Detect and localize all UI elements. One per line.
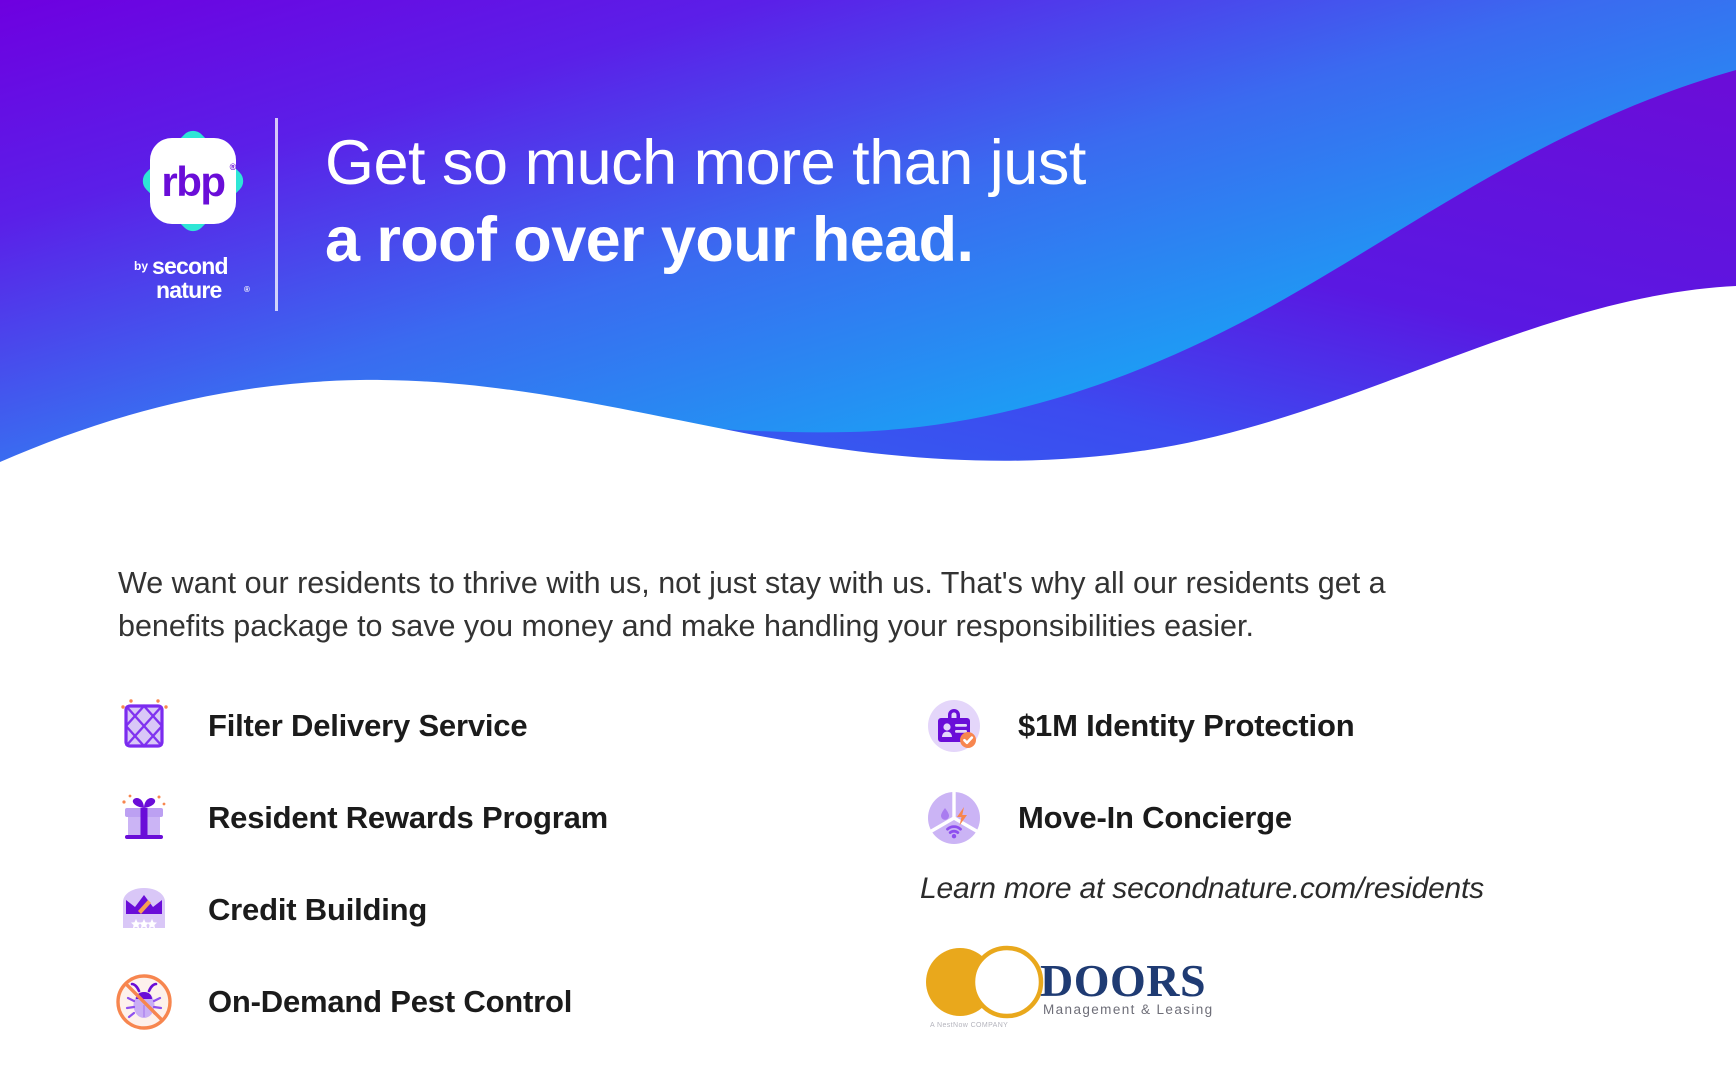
id-badge-check-icon — [920, 692, 988, 760]
rbp-benefits-flyer: rbp ® by second nature ® Get so much mor… — [0, 0, 1736, 1080]
partner-tagline: Management & Leasing — [1043, 1002, 1212, 1017]
intro-line-2: benefits package to save you money and m… — [118, 605, 1608, 648]
benefit-item-identity-protection[interactable]: $1M Identity Protection — [920, 680, 1354, 772]
benefit-label: $1M Identity Protection — [1018, 708, 1354, 744]
intro-line-1: We want our residents to thrive with us,… — [118, 562, 1608, 605]
hero-headline: Get so much more than just a roof over y… — [325, 128, 1086, 275]
partner-micro-tagline: A NestNow COMPANY — [930, 1022, 1008, 1029]
benefits-column-right: $1M Identity Protection Move-In Concier — [920, 680, 1354, 864]
no-pest-icon — [110, 968, 178, 1036]
benefit-item-credit-building[interactable]: Credit Building — [110, 864, 608, 956]
benefit-label: On-Demand Pest Control — [208, 984, 572, 1020]
svg-text:rbp: rbp — [161, 158, 224, 205]
benefit-label: Move-In Concierge — [1018, 800, 1292, 836]
doors-partner-logo: DOORS Management & Leasing — [912, 938, 1212, 1048]
benefit-item-move-in-concierge[interactable]: Move-In Concierge — [920, 772, 1354, 864]
rbp-logo-lockup: rbp ® by second nature ® — [108, 120, 278, 310]
air-filter-icon — [110, 692, 178, 760]
headline-line-1: Get so much more than just — [325, 128, 1086, 199]
headline-line-2: a roof over your head. — [325, 205, 1086, 276]
svg-text:second: second — [152, 253, 228, 279]
benefit-label: Filter Delivery Service — [208, 708, 527, 744]
crown-stars-icon — [110, 876, 178, 944]
second-nature-byline: by second nature ® — [108, 252, 278, 310]
svg-text:®: ® — [244, 285, 250, 294]
svg-text:®: ® — [230, 162, 237, 172]
hero-vertical-divider — [275, 118, 278, 311]
svg-text:nature: nature — [156, 277, 222, 303]
rbp-badge-icon: rbp ® — [132, 120, 254, 242]
svg-text:by: by — [134, 259, 148, 273]
benefit-label: Credit Building — [208, 892, 427, 928]
partner-name: DOORS — [1040, 955, 1206, 1006]
learn-more-text[interactable]: Learn more at secondnature.com/residents — [920, 872, 1484, 906]
benefit-label: Resident Rewards Program — [208, 800, 608, 836]
gift-box-icon — [110, 784, 178, 852]
utilities-circle-icon — [920, 784, 988, 852]
hero-banner: rbp ® by second nature ® Get so much mor… — [0, 0, 1736, 500]
intro-paragraph: We want our residents to thrive with us,… — [118, 562, 1608, 649]
benefits-column-left: Filter Delivery Service — [110, 680, 608, 1048]
benefit-item-resident-rewards[interactable]: Resident Rewards Program — [110, 772, 608, 864]
benefit-item-filter-delivery[interactable]: Filter Delivery Service — [110, 680, 608, 772]
benefit-item-pest-control[interactable]: On-Demand Pest Control — [110, 956, 608, 1048]
